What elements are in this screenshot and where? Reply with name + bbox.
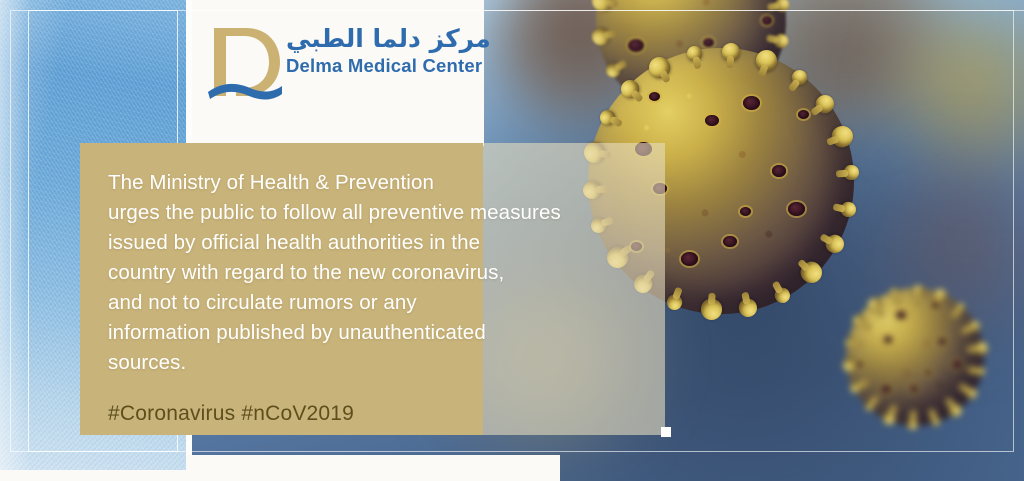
brand-logo: مركز دلما الطبي Delma Medical Center bbox=[206, 22, 474, 108]
virus-receptor-pit bbox=[798, 110, 809, 119]
virus-receptor-pit bbox=[881, 385, 891, 393]
virus-receptor-pit bbox=[740, 207, 751, 216]
virus-receptor-pit bbox=[762, 16, 772, 25]
bottom-white-band bbox=[0, 470, 560, 481]
virus-spike-protein bbox=[844, 337, 855, 348]
virus-spike-protein bbox=[906, 418, 917, 429]
message-line: urges the public to follow all preventiv… bbox=[108, 198, 653, 228]
awareness-poster: مركز دلما الطبي Delma Medical Center The… bbox=[0, 0, 1024, 481]
logo-english-name: Delma Medical Center bbox=[286, 56, 491, 75]
message-line: issued by official health authorities in… bbox=[108, 228, 653, 258]
virus-spike-protein bbox=[912, 284, 923, 295]
virus-receptor-pit bbox=[681, 252, 698, 266]
top-hairline-rule bbox=[186, 10, 1024, 11]
message-line: The Ministry of Health & Prevention bbox=[108, 168, 653, 198]
message-line: sources. bbox=[108, 348, 653, 378]
virus-receptor-pit bbox=[932, 302, 939, 307]
virus-receptor-pit bbox=[772, 165, 786, 176]
logo-letter-d-icon bbox=[206, 22, 284, 108]
message-line: and not to circulate rumors or any bbox=[108, 288, 653, 318]
hashtag-line: #Coronavirus #nCoV2019 bbox=[108, 402, 653, 426]
virus-receptor-pit bbox=[952, 360, 962, 368]
virus-spike-protein bbox=[843, 164, 859, 180]
virus-receptor-pit bbox=[703, 38, 713, 47]
message-line: information published by unauthenticated bbox=[108, 318, 653, 348]
virus-spike-protein bbox=[881, 410, 897, 426]
message-line: country with regard to the new coronavir… bbox=[108, 258, 653, 288]
message-text-block: The Ministry of Health & Prevention urge… bbox=[108, 168, 653, 426]
virus-receptor-pit bbox=[743, 96, 760, 110]
white-square-marker bbox=[661, 427, 671, 437]
logo-arabic-name: مركز دلما الطبي bbox=[286, 26, 491, 51]
logo-wordmark: مركز دلما الطبي Delma Medical Center bbox=[286, 22, 491, 75]
logo-panel: مركز دلما الطبي Delma Medical Center bbox=[192, 0, 484, 146]
panel-edge-wash bbox=[0, 0, 30, 470]
coronavirus-particle-secondary bbox=[846, 288, 984, 426]
